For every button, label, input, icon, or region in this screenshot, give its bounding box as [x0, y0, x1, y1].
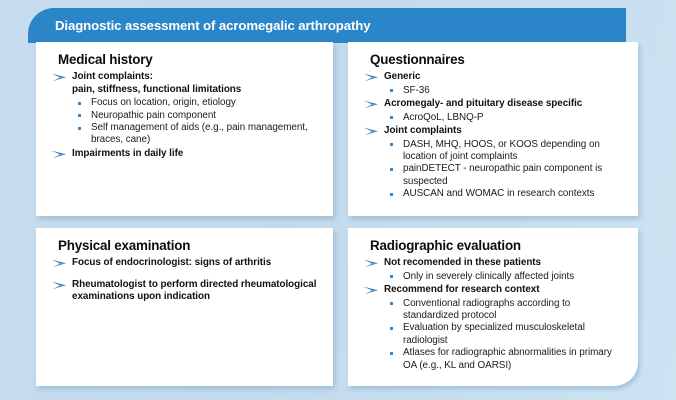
bullet-item-secondary: Self management of aids (e.g., pain mana… — [72, 122, 321, 147]
bullet-sublist: Conventional radiographs according to st… — [384, 298, 626, 372]
bullet-item-secondary: Atlases for radiographic abnormalities i… — [384, 347, 626, 372]
list-spacer — [50, 270, 321, 279]
bullet-item-secondary: Focus on location, origin, etiology — [72, 97, 321, 109]
card-medical-history: Medical history Joint complaints:pain, s… — [36, 42, 333, 216]
arrow-bullet-icon — [51, 259, 66, 268]
bullet-item-primary: Joint complaints:pain, stiffness, functi… — [50, 71, 321, 147]
dot-bullet-icon — [390, 168, 393, 171]
bullet-secondary-label: Focus on location, origin, etiology — [91, 97, 321, 109]
bullet-primary-label: Acromegaly- and pituitary disease specif… — [384, 98, 626, 111]
bullet-item-secondary: Conventional radiographs according to st… — [384, 298, 626, 323]
dot-bullet-icon — [390, 116, 393, 119]
bullet-secondary-label: Only in severely clinically affected joi… — [403, 271, 626, 283]
bullet-primary-label: Focus of endocrinologist: signs of arthr… — [72, 257, 321, 270]
bullet-item-primary: Acromegaly- and pituitary disease specif… — [362, 98, 626, 124]
card-title-radiographic-evaluation: Radiographic evaluation — [370, 238, 626, 253]
dot-bullet-icon — [390, 89, 393, 92]
card-title-questionnaires: Questionnaires — [370, 52, 626, 67]
bullet-item-secondary: AUSCAN and WOMAC in research contexts — [384, 188, 626, 200]
bullet-item-secondary: DASH, MHQ, HOOS, or KOOS depending on lo… — [384, 139, 626, 164]
bullet-secondary-label: Conventional radiographs according to st… — [403, 298, 626, 323]
card-title-physical-examination: Physical examination — [58, 238, 321, 253]
bullet-list-questionnaires: GenericSF-36Acromegaly- and pituitary di… — [362, 71, 626, 201]
bullet-primary-label: Impairments in daily life — [72, 148, 321, 161]
bullet-list-radiographic-evaluation: Not recomended in these patientsOnly in … — [362, 257, 626, 372]
card-questionnaires: Questionnaires GenericSF-36Acromegaly- a… — [348, 42, 638, 216]
arrow-bullet-icon — [51, 281, 66, 290]
bullet-primary-label: Joint complaints: — [72, 71, 321, 84]
bullet-primary-label: Recommend for research context — [384, 284, 626, 297]
bullet-primary-label: Joint complaints — [384, 125, 626, 138]
bullet-secondary-label: painDETECT - neuropathic pain component … — [403, 163, 626, 188]
dot-bullet-icon — [390, 352, 393, 355]
dot-bullet-icon — [78, 127, 81, 130]
arrow-bullet-icon — [363, 127, 378, 136]
diagnostic-assessment-figure: Diagnostic assessment of acromegalic art… — [0, 0, 676, 400]
bullet-list-medical-history: Joint complaints:pain, stiffness, functi… — [50, 71, 321, 160]
bullet-sublist: SF-36 — [384, 85, 626, 97]
card-physical-examination: Physical examination Focus of endocrinol… — [36, 228, 333, 386]
bullet-item-secondary: SF-36 — [384, 85, 626, 97]
bullet-item-primary: Rheumatologist to perform directed rheum… — [50, 279, 321, 304]
dot-bullet-icon — [390, 302, 393, 305]
dot-bullet-icon — [390, 193, 393, 196]
bullet-item-secondary: painDETECT - neuropathic pain component … — [384, 163, 626, 188]
dot-bullet-icon — [390, 327, 393, 330]
arrow-bullet-icon — [363, 73, 378, 82]
bullet-secondary-label: Self management of aids (e.g., pain mana… — [91, 122, 321, 147]
bullet-secondary-label: AcroQoL, LBNQ-P — [403, 112, 626, 124]
bullet-secondary-label: Atlases for radiographic abnormalities i… — [403, 347, 626, 372]
bullet-item-secondary: AcroQoL, LBNQ-P — [384, 112, 626, 124]
bullet-item-primary: GenericSF-36 — [362, 71, 626, 97]
bullet-list-physical-examination: Focus of endocrinologist: signs of arthr… — [50, 257, 321, 304]
arrow-bullet-icon — [51, 73, 66, 82]
arrow-bullet-icon — [363, 259, 378, 268]
arrow-bullet-icon — [363, 286, 378, 295]
bullet-sublist: Only in severely clinically affected joi… — [384, 271, 626, 283]
bullet-secondary-label: DASH, MHQ, HOOS, or KOOS depending on lo… — [403, 139, 626, 164]
figure-title: Diagnostic assessment of acromegalic art… — [28, 18, 370, 33]
bullet-sublist: AcroQoL, LBNQ-P — [384, 112, 626, 124]
dot-bullet-icon — [390, 275, 393, 278]
bullet-item-primary: Joint complaintsDASH, MHQ, HOOS, or KOOS… — [362, 125, 626, 201]
bullet-primary-label: Not recomended in these patients — [384, 257, 626, 270]
figure-header-bar: Diagnostic assessment of acromegalic art… — [28, 8, 626, 43]
bullet-sublist: DASH, MHQ, HOOS, or KOOS depending on lo… — [384, 139, 626, 201]
bullet-item-primary: Focus of endocrinologist: signs of arthr… — [50, 257, 321, 270]
bullet-secondary-label: SF-36 — [403, 85, 626, 97]
bullet-item-secondary: Evaluation by specialized musculoskeleta… — [384, 322, 626, 347]
dot-bullet-icon — [78, 102, 81, 105]
arrow-bullet-icon — [51, 150, 66, 159]
arrow-bullet-icon — [363, 100, 378, 109]
bullet-item-primary: Not recomended in these patientsOnly in … — [362, 257, 626, 283]
bullet-item-secondary: Neuropathic pain component — [72, 110, 321, 122]
bullet-primary-label: Rheumatologist to perform directed rheum… — [72, 279, 321, 304]
bullet-primary-label: Generic — [384, 71, 626, 84]
bullet-sublist: Focus on location, origin, etiologyNeuro… — [72, 97, 321, 147]
bullet-secondary-label: Neuropathic pain component — [91, 110, 321, 122]
bullet-item-primary: Impairments in daily life — [50, 148, 321, 161]
bullet-secondary-label: AUSCAN and WOMAC in research contexts — [403, 188, 626, 200]
bullet-item-secondary: Only in severely clinically affected joi… — [384, 271, 626, 283]
dot-bullet-icon — [390, 143, 393, 146]
bullet-item-primary: Recommend for research contextConvention… — [362, 284, 626, 372]
bullet-primary-label-continuation: pain, stiffness, functional limitations — [72, 84, 321, 97]
card-radiographic-evaluation: Radiographic evaluation Not recomended i… — [348, 228, 638, 386]
bullet-secondary-label: Evaluation by specialized musculoskeleta… — [403, 322, 626, 347]
card-title-medical-history: Medical history — [58, 52, 321, 67]
dot-bullet-icon — [78, 114, 81, 117]
